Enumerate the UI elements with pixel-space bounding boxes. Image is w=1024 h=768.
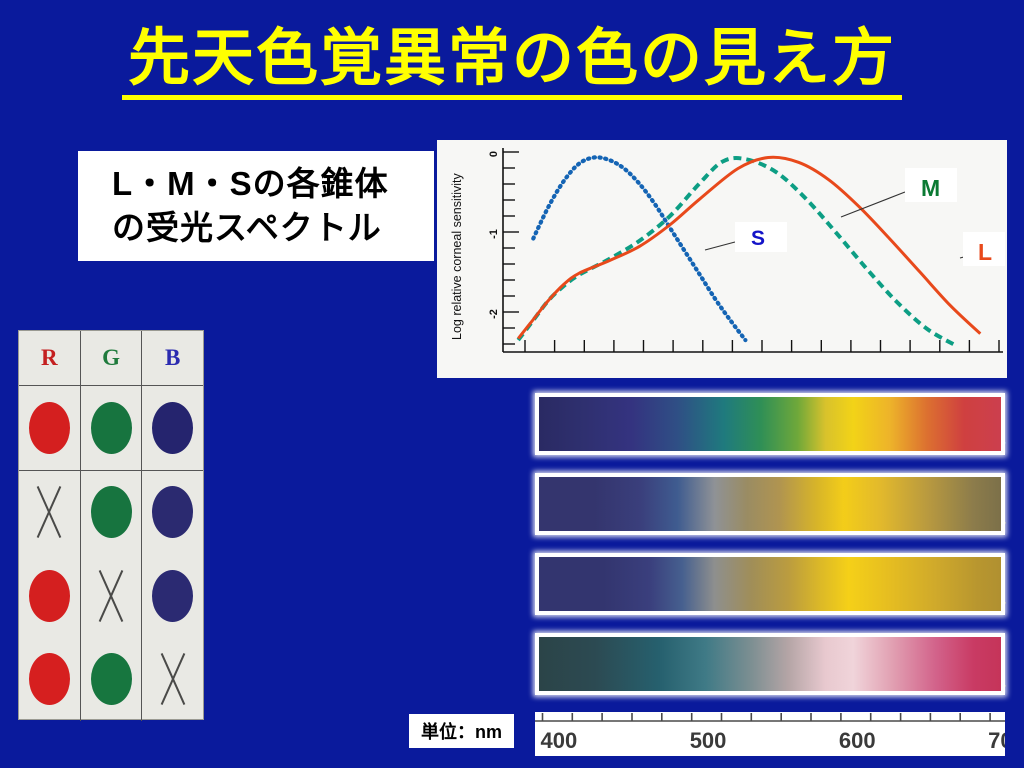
cone-dot xyxy=(152,570,193,622)
spectrum-bar-normal xyxy=(535,393,1005,455)
unit-box: 単位：nm xyxy=(409,714,514,748)
rgb-table-row xyxy=(19,386,203,471)
cone-dot-cell xyxy=(19,386,80,470)
rgb-table-row xyxy=(19,638,203,722)
cone-dot-cell xyxy=(80,471,142,555)
rgb-header-r-label: R xyxy=(41,345,58,371)
wavelength-label-400: 400 xyxy=(541,728,578,753)
cone-sensitivity-chart: Log relative corneal sensitivity xyxy=(437,140,1007,378)
chart-y-axis-title: Log relative corneal sensitivity xyxy=(450,173,464,340)
rgb-cone-table: R G B xyxy=(18,330,204,720)
cone-dot-cell xyxy=(141,386,203,470)
page-title-text: 先天色覚異常の色の見え方 xyxy=(122,26,902,100)
rgb-table-row xyxy=(19,471,203,555)
wavelength-axis-svg: 400500600700 xyxy=(535,712,1005,756)
cone-dot-cell xyxy=(141,471,203,555)
cone-dot xyxy=(91,486,132,538)
chart-y-tick-2: -2 xyxy=(488,309,500,319)
curve-label-m: M xyxy=(921,175,940,201)
wavelength-axis: 400500600700 xyxy=(535,712,1005,756)
cone-dot xyxy=(91,402,132,454)
rgb-header-b-label: B xyxy=(165,345,180,371)
rgb-header-g-label: G xyxy=(102,345,120,371)
slide-root: 先天色覚異常の色の見え方 L・M・Sの各錐体 の受光スペクトル Log rela… xyxy=(0,0,1024,768)
wavelength-ticks xyxy=(543,713,991,721)
cone-dot-cell xyxy=(80,386,142,470)
page-title: 先天色覚異常の色の見え方 xyxy=(0,26,1024,100)
rgb-header-r: R xyxy=(19,331,80,385)
wavelength-label-600: 600 xyxy=(839,728,876,753)
cone-dot-cell xyxy=(80,638,142,722)
unit-box-label: 単位：nm xyxy=(421,718,502,744)
x-mark-icon xyxy=(22,484,76,540)
cone-dot xyxy=(91,653,132,705)
rgb-table-body xyxy=(19,386,203,721)
cone-dot-cell xyxy=(19,638,80,722)
cone-dot xyxy=(29,570,70,622)
chart-caption-line-1: L・M・Sの各錐体 xyxy=(112,162,434,206)
chart-caption-line-2: の受光スペクトル xyxy=(112,206,434,250)
chart-y-tick-1: -1 xyxy=(488,229,500,239)
rgb-table-row xyxy=(19,554,203,638)
spectrum-gradient-type2 xyxy=(539,557,1001,611)
spectrum-bar-type2 xyxy=(535,553,1005,615)
rgb-header-g: G xyxy=(80,331,142,385)
rgb-table-header: R G B xyxy=(19,331,203,386)
spectrum-bar-type3 xyxy=(535,633,1005,695)
chart-y-tick-0: 0 xyxy=(488,151,500,157)
spectrum-gradient-normal xyxy=(539,397,1001,451)
wavelength-label-700: 700 xyxy=(988,728,1005,753)
curve-label-l: L xyxy=(978,239,992,265)
chart-caption-box: L・M・Sの各錐体 の受光スペクトル xyxy=(78,151,434,261)
wavelength-tick-labels: 400500600700 xyxy=(541,728,1006,753)
cone-missing-cell xyxy=(19,471,80,555)
x-mark-icon xyxy=(146,651,200,707)
curve-label-s: S xyxy=(751,227,765,250)
x-mark-icon xyxy=(84,568,138,624)
cone-dot-cell xyxy=(141,554,203,638)
wavelength-label-500: 500 xyxy=(690,728,727,753)
spectrum-gradient-type1 xyxy=(539,477,1001,531)
cone-dot-cell xyxy=(19,554,80,638)
rgb-header-b: B xyxy=(141,331,203,385)
cone-dot xyxy=(152,486,193,538)
chart-svg: Log relative corneal sensitivity xyxy=(437,140,1007,378)
cone-missing-cell xyxy=(141,638,203,722)
cone-dot xyxy=(29,402,70,454)
spectrum-bar-type1 xyxy=(535,473,1005,535)
cone-missing-cell xyxy=(80,554,142,638)
cone-dot xyxy=(29,653,70,705)
spectrum-gradient-type3 xyxy=(539,637,1001,691)
cone-dot xyxy=(152,402,193,454)
